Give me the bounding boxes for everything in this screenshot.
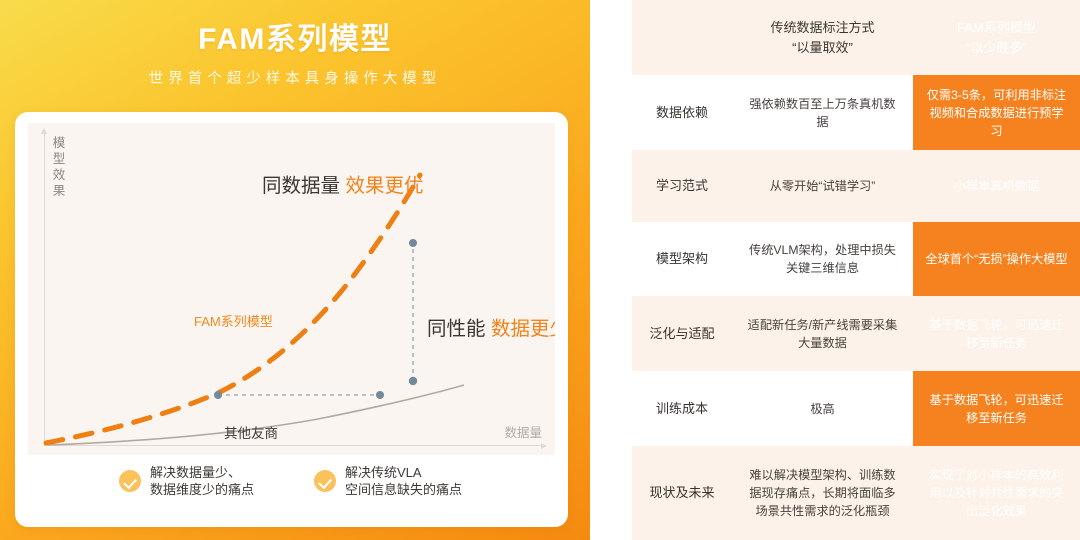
- row-fam: 小样本真机数据: [913, 150, 1080, 222]
- table-row: 模型架构 传统VLM架构，处理中损失关键三维信息 全球首个“无损”操作大模型: [632, 222, 1080, 296]
- table-header-row: 传统数据标注方式 “以量取效” FAM系列模型 “以少胜多”: [632, 0, 1080, 75]
- row-traditional: 从零开始“试错学习”: [732, 150, 913, 222]
- row-fam: 全球首个“无损”操作大模型: [913, 222, 1080, 296]
- comparison-table: 传统数据标注方式 “以量取效” FAM系列模型 “以少胜多” 数据依赖 强依赖数…: [632, 0, 1080, 540]
- row-fam: 实现了对小样本的高效利用以及针对共性需求的突出泛化效果: [913, 446, 1080, 540]
- table-row: 泛化与适配 适配新任务/新产线需要采集大量数据 基于数据飞轮，可迅速迁移至新任务: [632, 296, 1080, 371]
- list-item: 解决传统VLA 空间信息缺失的痛点: [314, 464, 462, 498]
- row-feature: 训练成本: [632, 371, 732, 446]
- page-subtitle: 世界首个超少样本具身操作大模型: [0, 67, 590, 88]
- header-cell-fam: FAM系列模型 “以少胜多”: [913, 0, 1080, 75]
- table-row: 训练成本 极高 基于数据飞轮，可迅速迁移至新任务: [632, 371, 1080, 446]
- row-traditional: 适配新任务/新产线需要采集大量数据: [732, 296, 913, 371]
- marker-dot: [376, 391, 384, 399]
- table-row: 数据依赖 强依赖数百至上万条真机数据 仅需3-5条，可利用非标注视频和合成数据进…: [632, 75, 1080, 150]
- hero-block: FAM系列模型 世界首个超少样本具身操作大模型: [0, 22, 590, 88]
- fam-curve: [46, 175, 420, 443]
- chart-plot-area: 模 型 效 果 数据量: [28, 123, 555, 455]
- marker-dot: [409, 377, 417, 385]
- left-gradient-panel: FAM系列模型 世界首个超少样本具身操作大模型 模 型 效 果 数据量: [0, 0, 590, 540]
- row-feature: 模型架构: [632, 222, 732, 296]
- slide-root: FAM系列模型 世界首个超少样本具身操作大模型 模 型 效 果 数据量: [0, 0, 1080, 540]
- row-traditional: 强依赖数百至上万条真机数据: [732, 75, 913, 150]
- series-label-competitor: 其他友商: [224, 422, 278, 442]
- row-traditional: 难以解决模型架构、训练数据现存痛点，长期将面临多场景共性需求的泛化瓶颈: [732, 446, 913, 540]
- row-fam: 基于数据飞轮，可迅速迁移至新任务: [913, 371, 1080, 446]
- annotation-same-data-accent: 效果更优: [345, 175, 423, 197]
- page-title: FAM系列模型: [0, 22, 590, 58]
- check-circle-icon: [119, 470, 141, 492]
- list-item: 解决数据量少、 数据维度少的痛点: [119, 464, 254, 498]
- bullet-list: 解决数据量少、 数据维度少的痛点 解决传统VLA 空间信息缺失的痛点: [28, 464, 555, 522]
- annotation-same-perf: 同性能 数据更少: [427, 312, 555, 341]
- row-feature: 数据依赖: [632, 75, 732, 150]
- header-cell-traditional: 传统数据标注方式 “以量取效”: [732, 0, 913, 75]
- check-circle-icon: [314, 470, 336, 492]
- marker-dot: [409, 239, 417, 247]
- table-row: 学习范式 从零开始“试错学习” 小样本真机数据: [632, 150, 1080, 222]
- bullet-text: 解决传统VLA 空间信息缺失的痛点: [345, 464, 462, 498]
- row-traditional: 传统VLM架构，处理中损失关键三维信息: [732, 222, 913, 296]
- row-feature: 学习范式: [632, 150, 732, 222]
- annotation-same-data: 同数据量 效果更优: [262, 169, 423, 198]
- row-feature: 泛化与适配: [632, 296, 732, 371]
- header-cell-feature: [632, 0, 732, 75]
- annotation-same-data-dark: 同数据量: [262, 175, 340, 197]
- row-fam: 基于数据飞轮，可迅速迁移至新任务: [913, 296, 1080, 371]
- row-feature: 现状及未来: [632, 446, 732, 540]
- series-label-fam: FAM系列模型: [194, 311, 273, 330]
- annotation-same-perf-dark: 同性能: [427, 318, 486, 340]
- chart-card: 模 型 效 果 数据量: [15, 112, 568, 527]
- marker-dot: [214, 391, 222, 399]
- bullet-text: 解决数据量少、 数据维度少的痛点: [150, 464, 254, 498]
- table-row: 现状及未来 难以解决模型架构、训练数据现存痛点，长期将面临多场景共性需求的泛化瓶…: [632, 446, 1080, 540]
- row-fam: 仅需3-5条，可利用非标注视频和合成数据进行预学习: [913, 75, 1080, 150]
- annotation-same-perf-accent: 数据更少: [491, 318, 555, 340]
- row-traditional: 极高: [732, 371, 913, 446]
